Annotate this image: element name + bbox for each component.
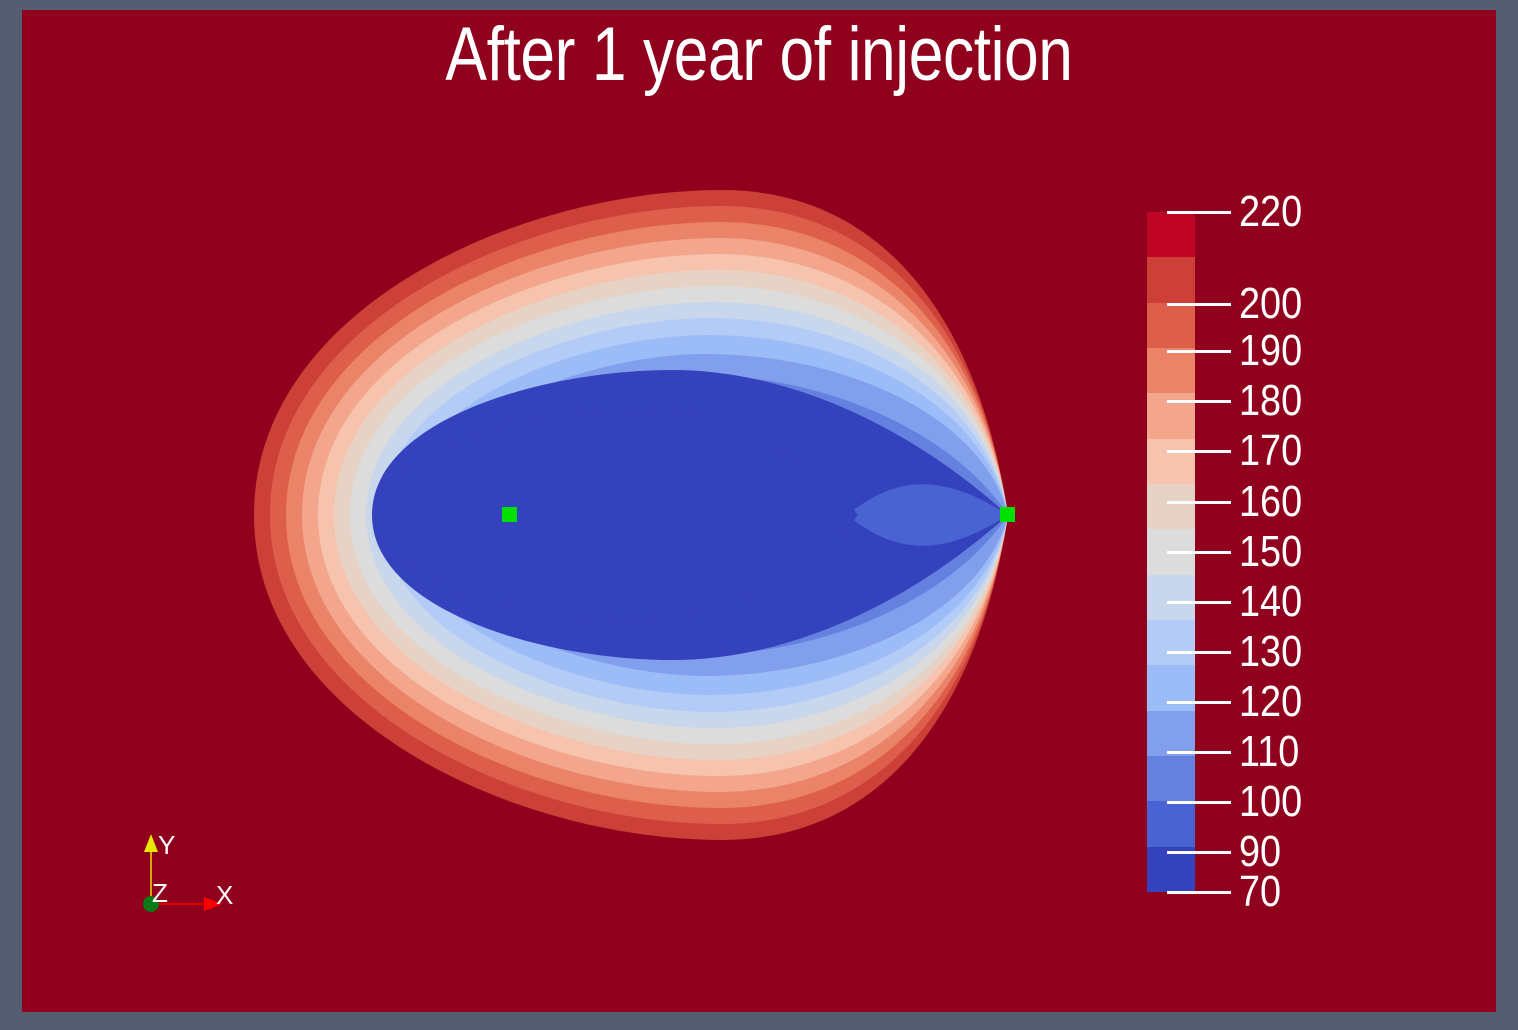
scalar-bar-band [1147, 303, 1195, 348]
scalar-bar-tick-label: 160 [1239, 480, 1302, 524]
scalar-bar-tick-label: 150 [1239, 530, 1302, 574]
scalar-bar-tick [1167, 400, 1231, 403]
scalar-bar-tick-label: 120 [1239, 680, 1302, 724]
paraview-render-window: After 1 year of injection 22020019018017… [0, 0, 1518, 1030]
scalar-bar-band [1147, 801, 1195, 846]
scalar-bar-tick [1167, 350, 1231, 353]
scalar-bar-band [1147, 348, 1195, 393]
scalar-bar[interactable]: 2202001901801701601501401301201101009070… [1147, 200, 1447, 910]
render-view[interactable]: After 1 year of injection 22020019018017… [22, 10, 1496, 1012]
x-axis-label: X [216, 882, 233, 908]
scalar-bar-title: temperature [1343, 657, 1496, 880]
injection-well-marker[interactable] [502, 507, 517, 522]
orientation-axes-widget[interactable]: Y X Z [122, 820, 252, 920]
scalar-bar-tick [1167, 211, 1231, 214]
scalar-bar-tick-label: 110 [1239, 730, 1299, 774]
z-axis-label: Z [152, 880, 168, 906]
scalar-bar-band [1147, 439, 1195, 484]
y-axis-arrow-icon [144, 834, 158, 852]
scalar-bar-tick [1167, 501, 1231, 504]
scalar-bar-tick-label: 130 [1239, 630, 1302, 674]
scalar-bar-tick-label: 100 [1239, 780, 1302, 824]
scalar-bar-tick [1167, 891, 1231, 894]
scalar-bar-tick-label: 200 [1239, 282, 1302, 326]
scalar-bar-band [1147, 620, 1195, 665]
y-axis-label: Y [158, 832, 175, 858]
scalar-bar-tick [1167, 851, 1231, 854]
scalar-bar-tick-label: 170 [1239, 429, 1302, 473]
production-well-marker[interactable] [1000, 507, 1015, 522]
scalar-bar-tick [1167, 801, 1231, 804]
scalar-bar-band [1147, 756, 1195, 801]
scalar-bar-tick-label: 190 [1239, 329, 1302, 373]
scalar-bar-band [1147, 484, 1195, 529]
scalar-bar-tick [1167, 551, 1231, 554]
scalar-bar-band [1147, 575, 1195, 620]
scalar-bar-tick [1167, 450, 1231, 453]
scalar-bar-tick [1167, 701, 1231, 704]
scalar-bar-tick-label: 70 [1239, 870, 1281, 914]
scalar-bar-tick [1167, 651, 1231, 654]
scalar-bar-tick-label: 220 [1239, 190, 1302, 234]
scalar-bar-tick [1167, 751, 1231, 754]
scalar-bar-tick [1167, 601, 1231, 604]
scalar-bar-tick-label: 140 [1239, 580, 1302, 624]
contour-bands [254, 190, 1008, 840]
scalar-bar-band [1147, 711, 1195, 756]
scalar-bar-band [1147, 257, 1195, 302]
scalar-bar-tick-label: 180 [1239, 379, 1302, 423]
scalar-bar-tick [1167, 303, 1231, 306]
view-title: After 1 year of injection [155, 12, 1364, 98]
scalar-bar-band [1147, 212, 1195, 257]
